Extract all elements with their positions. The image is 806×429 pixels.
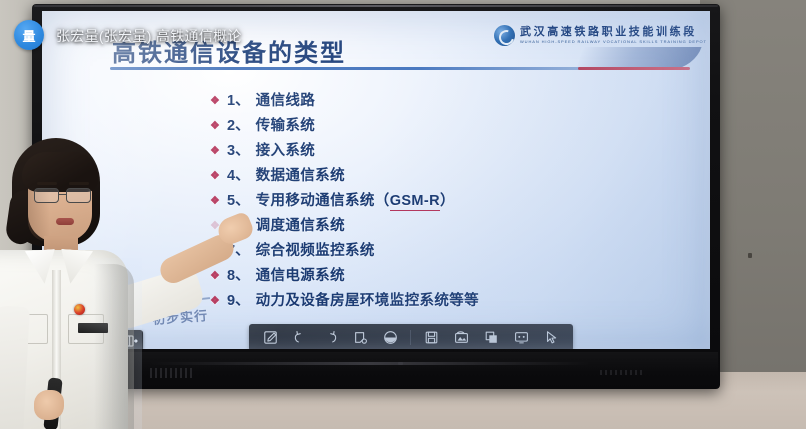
bullet-diamond-icon: ❖ bbox=[210, 121, 221, 132]
save-icon[interactable] bbox=[421, 328, 442, 347]
bullet-text: 接入系统 bbox=[256, 139, 316, 160]
bullet-item: ❖3、接入系统 bbox=[210, 139, 479, 164]
gallery-icon[interactable] bbox=[451, 328, 472, 347]
bullet-item: ❖5、专用移动通信系统（GSM-R） bbox=[210, 189, 479, 214]
bullet-text: 通信线路 bbox=[256, 89, 316, 110]
screenshot-stage: 武汉高速铁路职业技能训练段 WUHAN HIGH-SPEED RAILWAY V… bbox=[0, 0, 806, 429]
bullet-text: 数据通信系统 bbox=[256, 164, 345, 185]
bullet-diamond-icon: ❖ bbox=[210, 171, 221, 182]
cursor-icon[interactable] bbox=[541, 328, 562, 347]
presenter-name-badge bbox=[78, 323, 108, 333]
bullet-text: 综合视频监控系统 bbox=[256, 239, 375, 260]
presenter-left-hand bbox=[34, 390, 64, 420]
presenter-lips bbox=[56, 218, 74, 225]
bullet-number: 3、 bbox=[227, 139, 250, 160]
title-swoosh-decoration bbox=[576, 47, 701, 69]
bullet-number: 1、 bbox=[227, 89, 250, 110]
toolbar-separator bbox=[410, 330, 411, 345]
bezel-label-right bbox=[600, 370, 644, 375]
logo-chinese-name: 武汉高速铁路职业技能训练段 bbox=[520, 27, 707, 38]
presenter-person bbox=[0, 138, 180, 429]
bullet-text: 传输系统 bbox=[256, 114, 316, 135]
redo-icon[interactable] bbox=[320, 328, 341, 347]
bullet-diamond-icon: ❖ bbox=[210, 96, 221, 107]
bullet-diamond-icon: ❖ bbox=[210, 146, 221, 157]
undo-icon[interactable] bbox=[290, 328, 311, 347]
organization-logo: 武汉高速铁路职业技能训练段 WUHAN HIGH-SPEED RAILWAY V… bbox=[494, 25, 707, 46]
slide-bullet-list: ❖1、通信线路❖2、传输系统❖3、接入系统❖4、数据通信系统❖5、专用移动通信系… bbox=[210, 89, 479, 314]
bullet-item: ❖8、通信电源系统 bbox=[210, 264, 479, 289]
presenter-eyebrow-left bbox=[37, 182, 57, 185]
bullet-text: 动力及设备房屋环境监控系统等等 bbox=[256, 289, 480, 310]
logo-text-block: 武汉高速铁路职业技能训练段 WUHAN HIGH-SPEED RAILWAY V… bbox=[520, 27, 707, 44]
color-wheel-icon[interactable] bbox=[380, 328, 401, 347]
bullet-diamond-icon: ❖ bbox=[210, 196, 221, 207]
bullet-diamond-icon: ❖ bbox=[210, 271, 221, 282]
bullet-text: 专用移动通信系统（GSM-R） bbox=[256, 189, 455, 211]
title-underline-red bbox=[578, 67, 690, 70]
presenter-shirt-shading bbox=[94, 264, 134, 429]
bullet-diamond-icon: ❖ bbox=[210, 296, 221, 307]
presenter-eyebrow-right bbox=[69, 182, 89, 185]
title-underline-blue bbox=[110, 67, 608, 70]
glasses-lens-left bbox=[34, 188, 59, 203]
bullet-item: ❖7、综合视频监控系统 bbox=[210, 239, 479, 264]
glasses-bridge bbox=[59, 194, 66, 195]
bullet-text: 调度通信系统 bbox=[256, 214, 345, 235]
slide-title: 高铁通信设备的类型 bbox=[112, 33, 346, 68]
eraser-icon[interactable] bbox=[350, 328, 371, 347]
bezel-speaker-grille bbox=[150, 362, 590, 365]
bullet-item: ❖9、动力及设备房屋环境监控系统等等 bbox=[210, 289, 479, 314]
bullet-number: 4、 bbox=[227, 164, 250, 185]
bullet-item: ❖4、数据通信系统 bbox=[210, 164, 479, 189]
pen-icon[interactable] bbox=[260, 328, 281, 347]
presenter-hair-front bbox=[22, 152, 98, 192]
glasses-lens-right bbox=[66, 188, 91, 203]
gsm-r-highlight: GSM-R bbox=[390, 193, 440, 211]
bezel-highlight bbox=[34, 5, 718, 7]
presenter-glasses-icon bbox=[34, 188, 94, 203]
bezel-indicator-led bbox=[398, 362, 403, 365]
screen-icon[interactable] bbox=[511, 328, 532, 347]
bullet-item: ❖1、通信线路 bbox=[210, 89, 479, 114]
layers-icon[interactable] bbox=[481, 328, 502, 347]
wall-mark bbox=[748, 253, 752, 258]
bullet-number: 9、 bbox=[227, 289, 250, 310]
bullet-number: 5、 bbox=[227, 189, 250, 210]
bullet-number: 8、 bbox=[227, 264, 250, 285]
circle-g-logo-icon bbox=[494, 25, 515, 46]
presenter-lapel-pin bbox=[74, 304, 85, 315]
bullet-item: ❖2、传输系统 bbox=[210, 114, 479, 139]
bullet-text: 通信电源系统 bbox=[256, 264, 345, 285]
logo-english-name: WUHAN HIGH-SPEED RAILWAY VOCATIONAL SKIL… bbox=[520, 40, 707, 44]
bullet-number: 2、 bbox=[227, 114, 250, 135]
whiteboard-toolbar[interactable] bbox=[249, 324, 573, 349]
